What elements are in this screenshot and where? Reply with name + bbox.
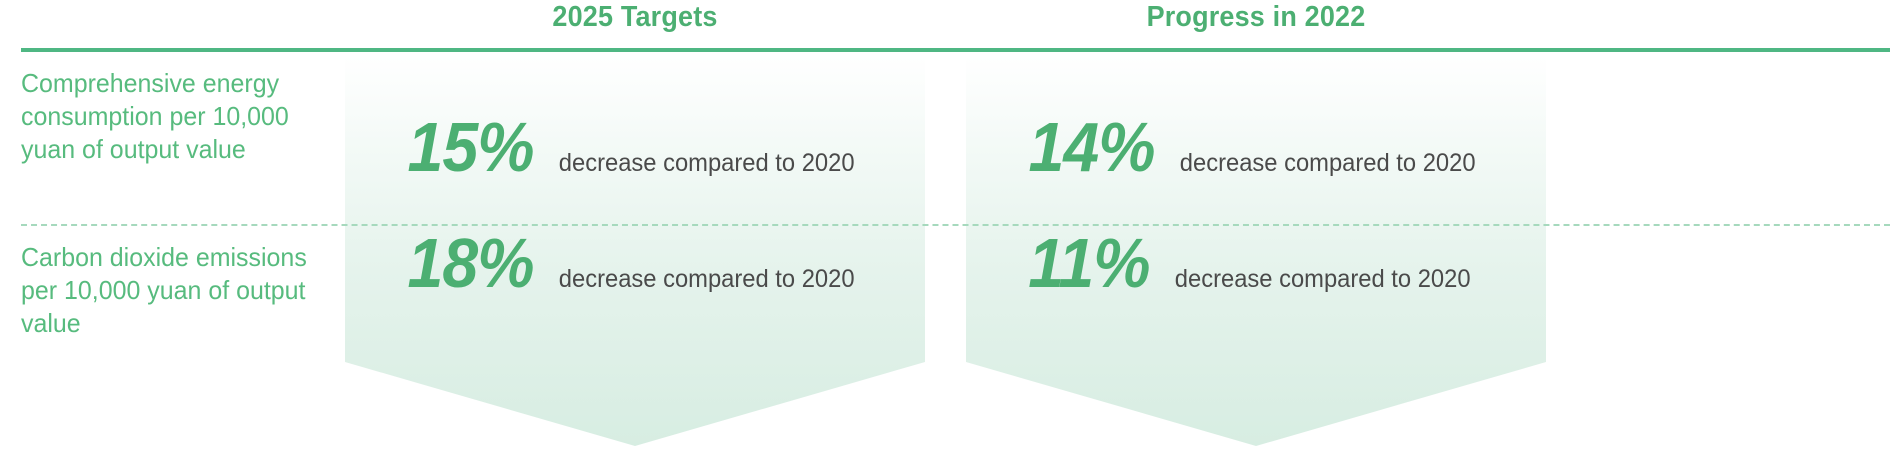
panel-2025-targets: 15% decrease compared to 2020 18% decrea… (345, 56, 925, 452)
value-description-progress-row-0: decrease compared to 2020 (1180, 151, 1476, 176)
panel-progress-2022: 14% decrease compared to 2020 11% decrea… (966, 56, 1546, 452)
value-description-progress-row-1: decrease compared to 2020 (1175, 267, 1471, 292)
value-cell-progress-row-0: 14% decrease compared to 2020 (966, 112, 1546, 224)
column-header-progress-2022: Progress in 2022 (986, 1, 1525, 34)
header-divider-rule (21, 48, 1890, 52)
value-number-progress-row-0: 14% (1028, 112, 1154, 182)
value-number-progress-row-1: 11% (1028, 228, 1149, 298)
row-label-energy-consumption: Comprehensive energy consumption per 10,… (21, 67, 319, 166)
value-description-targets-row-1: decrease compared to 2020 (559, 267, 855, 292)
value-number-targets-row-1: 18% (407, 228, 533, 298)
value-number-targets-row-0: 15% (407, 112, 533, 182)
column-header-2025-targets: 2025 Targets (365, 1, 904, 34)
value-cell-targets-row-0: 15% decrease compared to 2020 (345, 112, 925, 224)
value-cell-progress-row-1: 11% decrease compared to 2020 (966, 228, 1546, 340)
value-cell-targets-row-1: 18% decrease compared to 2020 (345, 228, 925, 340)
row-divider-dotted (21, 224, 1890, 226)
row-label-carbon-dioxide-emissions: Carbon dioxide emissions per 10,000 yuan… (21, 241, 319, 340)
value-description-targets-row-0: decrease compared to 2020 (559, 151, 855, 176)
infographic-root: 2025 Targets Progress in 2022 15% decrea (0, 0, 1896, 452)
